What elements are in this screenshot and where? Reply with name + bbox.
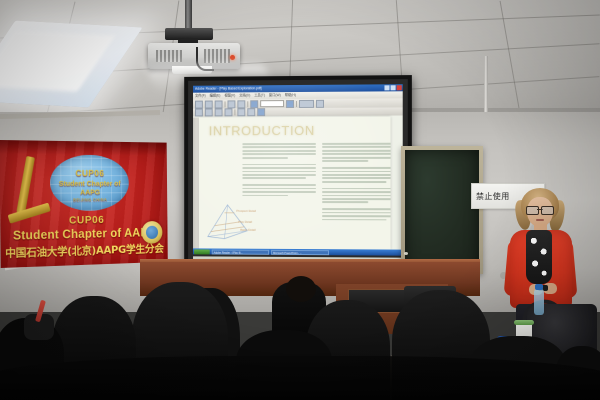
start-button[interactable] (194, 249, 210, 254)
pyramid-diagram: Prospect Detail Play Detail Basin Detail (205, 201, 250, 241)
pyramid-label-basin: Basin Detail (240, 228, 255, 232)
pdf-toolbar-secondary[interactable] (193, 107, 403, 116)
paragraph (242, 184, 316, 196)
save-icon[interactable] (205, 100, 213, 108)
paragraph (322, 167, 391, 183)
rock-hammer-icon (16, 156, 35, 214)
chalk-piece (404, 252, 408, 255)
projector-mount-rod (185, 0, 192, 30)
document-column-right (322, 143, 391, 226)
open-file-icon[interactable] (195, 100, 203, 108)
coffee-cup-lid (514, 320, 534, 325)
toolbar-divider (296, 101, 297, 107)
green-chalkboard (401, 146, 483, 274)
eyeglasses-icon (526, 206, 554, 213)
zoom-out-icon[interactable] (250, 100, 258, 108)
select-tool-icon[interactable] (227, 100, 235, 108)
banner-line3-chinese: 中国石油大学(北京)AAPG学生分会 (0, 240, 167, 261)
print-icon[interactable] (215, 100, 223, 108)
comment-icon[interactable] (257, 108, 265, 116)
lecture-hall-photo: CUP06 Student Chapter of AAPG BEIJING CH… (0, 0, 600, 400)
next-page-icon[interactable] (215, 108, 223, 116)
taskbar-item-powerpoint[interactable]: Microsoft PowerPoint - ... (271, 249, 329, 254)
rotate-icon[interactable] (237, 108, 245, 116)
taskbar-item-reader[interactable]: Adobe Reader - [Play B... (212, 249, 269, 254)
pdf-window-title: Adobe Reader - [Play Based Exploration.p… (195, 86, 262, 90)
minimize-button[interactable] (384, 85, 389, 90)
toolbar-divider (234, 109, 235, 115)
paragraph (322, 208, 391, 220)
projection-screen-frame: Adobe Reader - [Play Based Exploration.p… (184, 75, 412, 279)
banner-globe-line2: Student Chapter of (50, 180, 129, 188)
banner-globe-line3: AAPG (50, 188, 129, 196)
toolbar-divider (247, 101, 248, 107)
projector-vent-icon (156, 50, 182, 62)
aapg-chapter-banner: CUP06 Student Chapter of AAPG BEIJING CH… (0, 140, 168, 268)
pdf-page: INTRODUCTION (199, 117, 391, 250)
mouth (536, 219, 544, 221)
fit-page-icon[interactable] (247, 108, 255, 116)
document-column-left (242, 143, 316, 201)
list-item (286, 276, 316, 302)
chalkboard-surface (405, 150, 479, 270)
bottle-cap (535, 284, 543, 290)
zoom-in-icon[interactable] (286, 100, 294, 108)
banner-globe-line1: CUP06 (50, 169, 129, 178)
projector-status-led (230, 55, 235, 60)
prev-page-icon[interactable] (205, 108, 213, 116)
last-page-icon[interactable] (225, 108, 233, 116)
pyramid-label-play: Play Detail (238, 220, 252, 224)
window-controls[interactable] (384, 85, 401, 90)
wall-conduit-pipe (484, 56, 488, 112)
close-icon[interactable] (397, 85, 402, 90)
menu-item-tools[interactable]: 工具(T) (254, 92, 265, 99)
banner-globe-line4: BEIJING CHINA (50, 198, 129, 203)
first-page-icon[interactable] (195, 109, 203, 117)
paragraph (242, 164, 316, 180)
globe-emblem: CUP06 Student Chapter of AAPG BEIJING CH… (50, 155, 129, 212)
audience-foreground (0, 356, 600, 400)
search-input[interactable] (299, 99, 314, 107)
paragraph (322, 143, 391, 162)
patterned-scarf (526, 230, 552, 284)
paragraph (242, 143, 316, 159)
pyramid-label-prospect: Prospect Detail (236, 209, 255, 213)
hand-tool-icon[interactable] (237, 100, 245, 108)
zoom-level-input[interactable] (260, 100, 284, 107)
maximize-button[interactable] (391, 85, 396, 90)
projection-screen-surface[interactable]: Adobe Reader - [Play Based Exploration.p… (193, 84, 403, 255)
water-bottle (534, 289, 544, 315)
paragraph (322, 188, 391, 204)
page-heading: INTRODUCTION (209, 123, 315, 138)
search-icon[interactable] (316, 99, 324, 107)
wall-stain (0, 110, 160, 119)
toolbar-divider (225, 101, 226, 107)
